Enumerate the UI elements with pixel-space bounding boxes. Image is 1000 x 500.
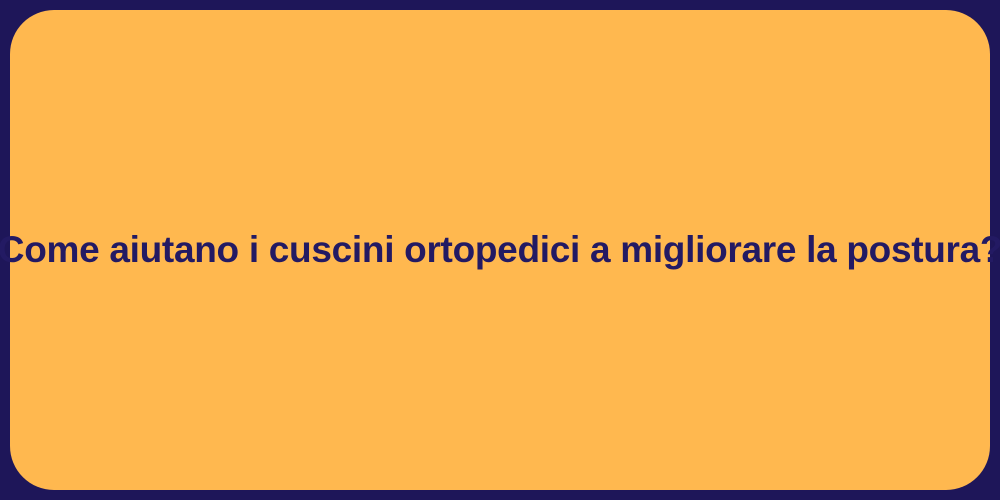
card-panel: Come aiutano i cuscini ortopedici a migl…	[10, 10, 990, 490]
headline-question: Come aiutano i cuscini ortopedici a migl…	[0, 227, 1000, 273]
card-frame: Come aiutano i cuscini ortopedici a migl…	[0, 0, 1000, 500]
